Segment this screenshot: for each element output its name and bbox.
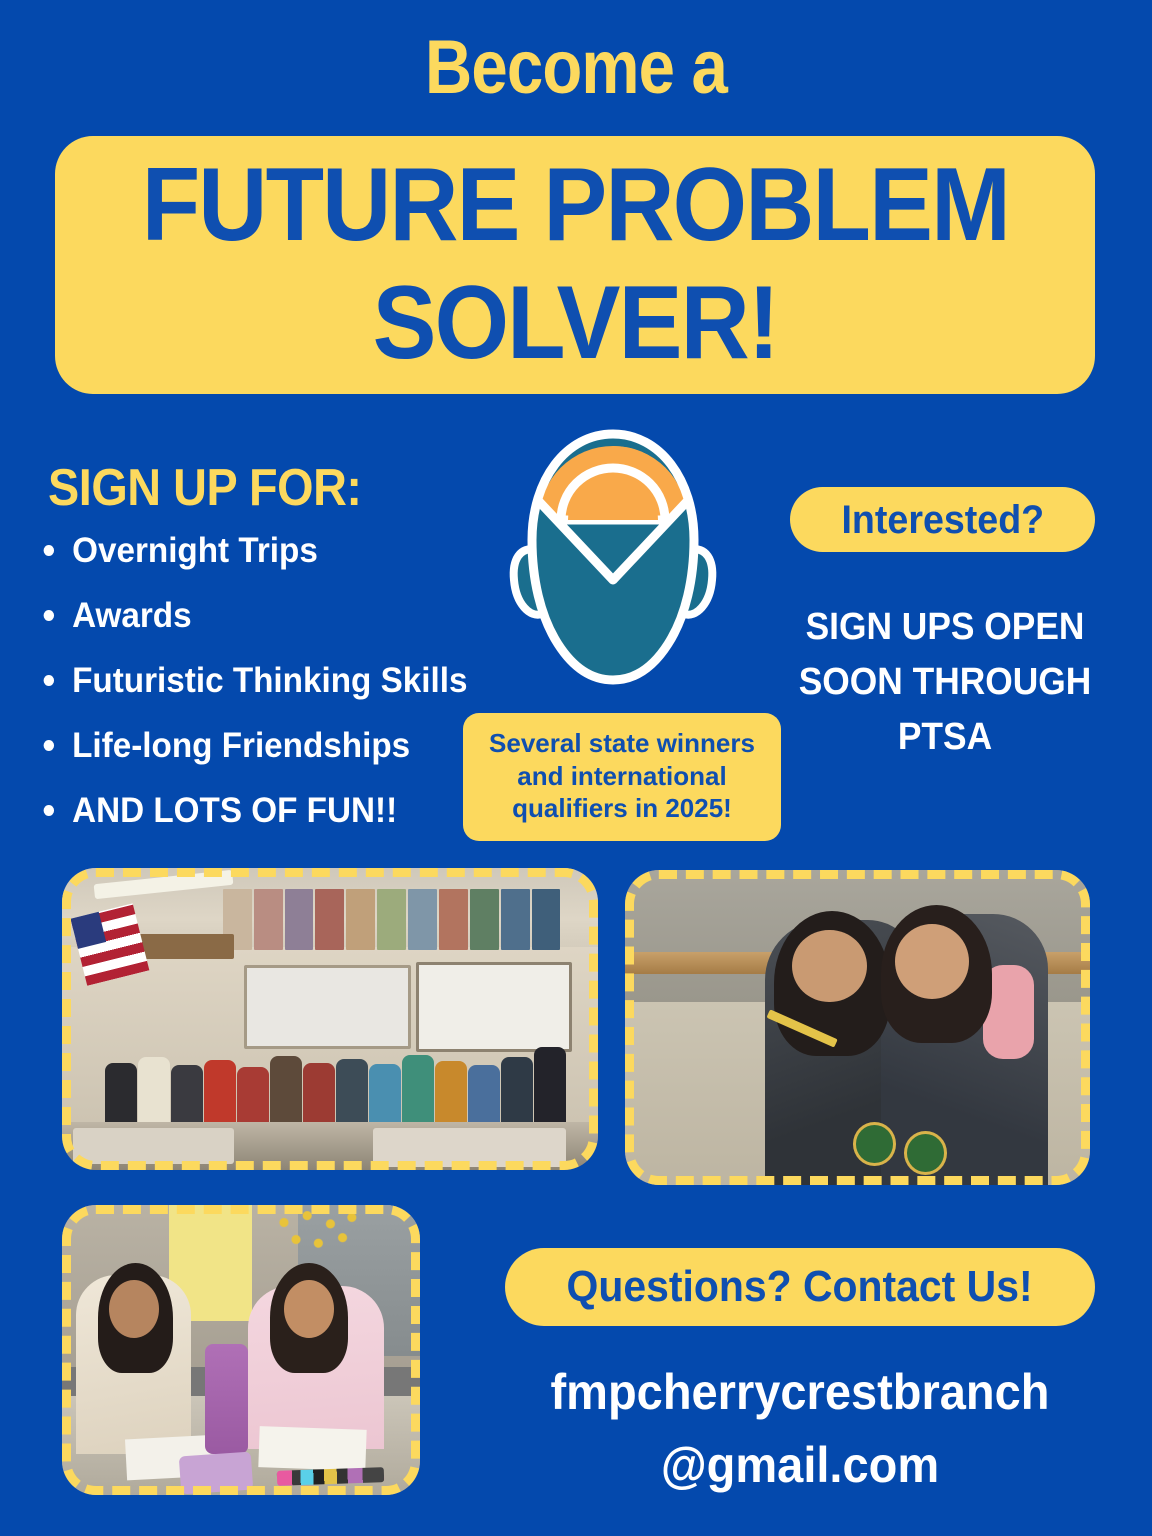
list-item: Awards (36, 598, 483, 633)
contact-email[interactable]: fmpcherrycrestbranch @gmail.com (490, 1356, 1110, 1501)
photo-two-girls-desk-image (62, 1205, 420, 1495)
signup-benefits-list: Overnight Trips Awards Futuristic Thinki… (36, 533, 506, 858)
list-item: AND LOTS OF FUN!! (36, 793, 483, 828)
interested-pill-label: Interested? (841, 500, 1044, 540)
state-winners-callout: Several state winners and international … (463, 713, 781, 841)
photo-two-girls-medals (625, 870, 1090, 1185)
future-problem-solving-head-logo-icon (508, 428, 718, 686)
list-item: Overnight Trips (36, 533, 483, 568)
list-item: Futuristic Thinking Skills (36, 663, 483, 698)
main-title-box: FUTURE PROBLEM SOLVER! (55, 136, 1095, 394)
photo-classroom-group-image (62, 868, 598, 1170)
contact-pill-label: Questions? Contact Us! (567, 1265, 1033, 1309)
title-line-2: SOLVER! (372, 273, 777, 375)
photo-two-girls-desk (62, 1205, 420, 1495)
signup-heading: SIGN UP FOR: (48, 462, 362, 514)
signup-open-note: SIGN UPS OPEN SOON THROUGH PTSA (773, 600, 1117, 765)
list-item: Life-long Friendships (36, 728, 483, 763)
title-line-1: FUTURE PROBLEM (141, 155, 1008, 257)
poster-root: Become a FUTURE PROBLEM SOLVER! SIGN UP … (0, 0, 1152, 1536)
kicker-text: Become a (81, 30, 1072, 106)
contact-email-line-1: fmpcherrycrestbranch (490, 1356, 1110, 1429)
photo-classroom-group (62, 868, 598, 1170)
contact-email-line-2: @gmail.com (490, 1429, 1110, 1502)
contact-pill[interactable]: Questions? Contact Us! (505, 1248, 1095, 1326)
photo-two-girls-medals-image (625, 870, 1090, 1185)
interested-pill[interactable]: Interested? (790, 487, 1095, 552)
